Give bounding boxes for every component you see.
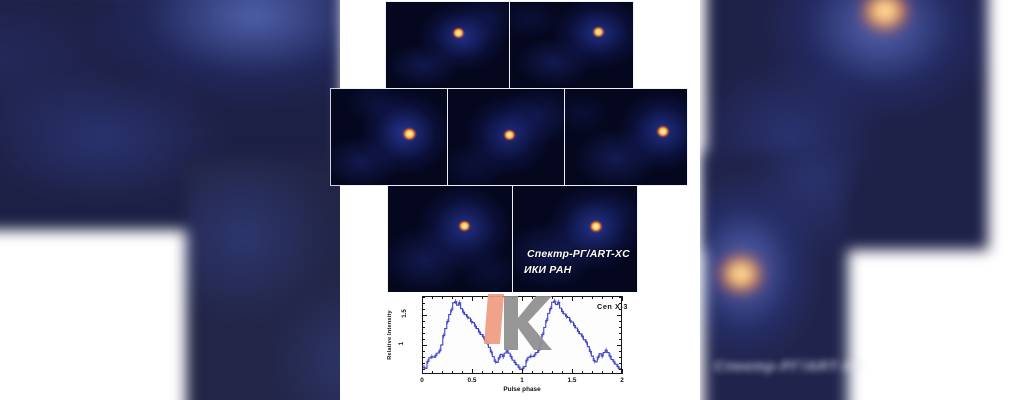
axis-tick — [617, 315, 622, 316]
axis-tick — [617, 345, 622, 346]
axis-tick — [582, 371, 583, 374]
x-tick-label: 0.5 — [468, 377, 477, 384]
axis-tick — [622, 296, 623, 301]
image-mosaic: Спектр-РГ/ART-XC ИКИ РАН — [330, 0, 688, 296]
axis-tick — [562, 296, 563, 299]
axis-tick — [572, 296, 573, 301]
chart-title: Cen X-3 — [597, 302, 628, 311]
axis-tick — [552, 296, 553, 299]
axis-tick — [522, 369, 523, 374]
axis-tick — [422, 363, 425, 364]
background-tile-b — [186, 158, 340, 400]
axis-tick — [442, 296, 443, 299]
x-tick-label: 1 — [520, 377, 524, 384]
axis-tick — [422, 309, 425, 310]
mosaic-panel-3[interactable] — [331, 89, 447, 185]
axis-tick — [492, 371, 493, 374]
axis-tick — [542, 371, 543, 374]
axis-tick — [472, 296, 473, 301]
axis-tick — [492, 296, 493, 299]
axis-tick — [462, 371, 463, 374]
axis-tick — [619, 339, 622, 340]
axis-tick — [452, 371, 453, 374]
y-tick-label: 1.5 — [400, 310, 409, 317]
axis-tick — [532, 296, 533, 299]
axis-tick — [612, 371, 613, 374]
axis-tick — [532, 371, 533, 374]
background-watermark-text: Спектр-РГ/ART-XC — [714, 358, 864, 375]
y-tick-label: 1 — [400, 340, 403, 347]
axis-tick — [502, 371, 503, 374]
y-axis-label: Relative Intensity — [384, 296, 396, 374]
mosaic-panel-2[interactable] — [510, 2, 633, 88]
axis-tick — [619, 333, 622, 334]
axis-tick — [422, 345, 427, 346]
x-tick-label: 2 — [620, 377, 624, 384]
axis-tick — [582, 296, 583, 299]
axis-tick — [422, 315, 427, 316]
axis-tick — [542, 296, 543, 299]
axis-tick — [422, 321, 425, 322]
axis-tick — [612, 296, 613, 299]
axis-tick — [442, 371, 443, 374]
axis-tick — [619, 357, 622, 358]
axis-tick — [619, 321, 622, 322]
background-mosaic-right: Спектр-РГ/ART-XC — [700, 0, 1024, 400]
x-tick-label: 1.5 — [568, 377, 577, 384]
axis-tick — [619, 297, 622, 298]
axis-tick — [432, 296, 433, 299]
mosaic-panel-5[interactable] — [565, 89, 687, 185]
axis-tick — [422, 369, 425, 370]
axis-tick — [422, 357, 425, 358]
watermark-line-1: Спектр-РГ/ART-XC — [527, 248, 630, 260]
axis-tick — [422, 351, 425, 352]
axis-tick — [452, 296, 453, 299]
pulse-profile-chart: Relative Intensity 11.5 00.511.52 Pulse … — [386, 292, 638, 400]
axis-tick — [602, 371, 603, 374]
axis-tick — [432, 371, 433, 374]
axis-tick — [422, 339, 425, 340]
plot-area — [422, 296, 622, 374]
axis-tick — [462, 296, 463, 299]
axis-tick — [522, 296, 523, 301]
axis-tick — [502, 296, 503, 299]
x-axis-label: Pulse phase — [422, 386, 622, 393]
axis-tick — [482, 296, 483, 299]
axis-tick — [422, 327, 425, 328]
axis-tick — [592, 371, 593, 374]
mosaic-panel-6[interactable] — [388, 186, 512, 295]
mosaic-panel-1[interactable] — [386, 2, 509, 88]
axis-tick — [552, 371, 553, 374]
axis-tick — [562, 371, 563, 374]
mosaic-panel-4[interactable] — [448, 89, 564, 185]
axis-tick — [602, 296, 603, 299]
background-mosaic-left — [0, 0, 340, 400]
axis-tick — [622, 369, 623, 374]
axis-tick — [422, 303, 425, 304]
axis-tick — [512, 371, 513, 374]
mosaic-panel-7[interactable]: Спектр-РГ/ART-XC ИКИ РАН — [513, 186, 637, 295]
axis-tick — [422, 297, 425, 298]
axis-tick — [619, 363, 622, 364]
pulse-profile-line — [423, 297, 621, 373]
axis-tick — [572, 369, 573, 374]
axis-tick — [619, 327, 622, 328]
axis-tick — [619, 351, 622, 352]
axis-tick — [422, 333, 425, 334]
figure-canvas: Спектр-РГ/ART-XC — [0, 0, 1024, 400]
axis-tick — [512, 296, 513, 299]
axis-tick — [592, 296, 593, 299]
axis-tick — [619, 369, 622, 370]
x-tick-label: 0 — [420, 377, 424, 384]
axis-tick — [482, 371, 483, 374]
watermark-line-2: ИКИ РАН — [524, 264, 571, 276]
axis-tick — [472, 369, 473, 374]
